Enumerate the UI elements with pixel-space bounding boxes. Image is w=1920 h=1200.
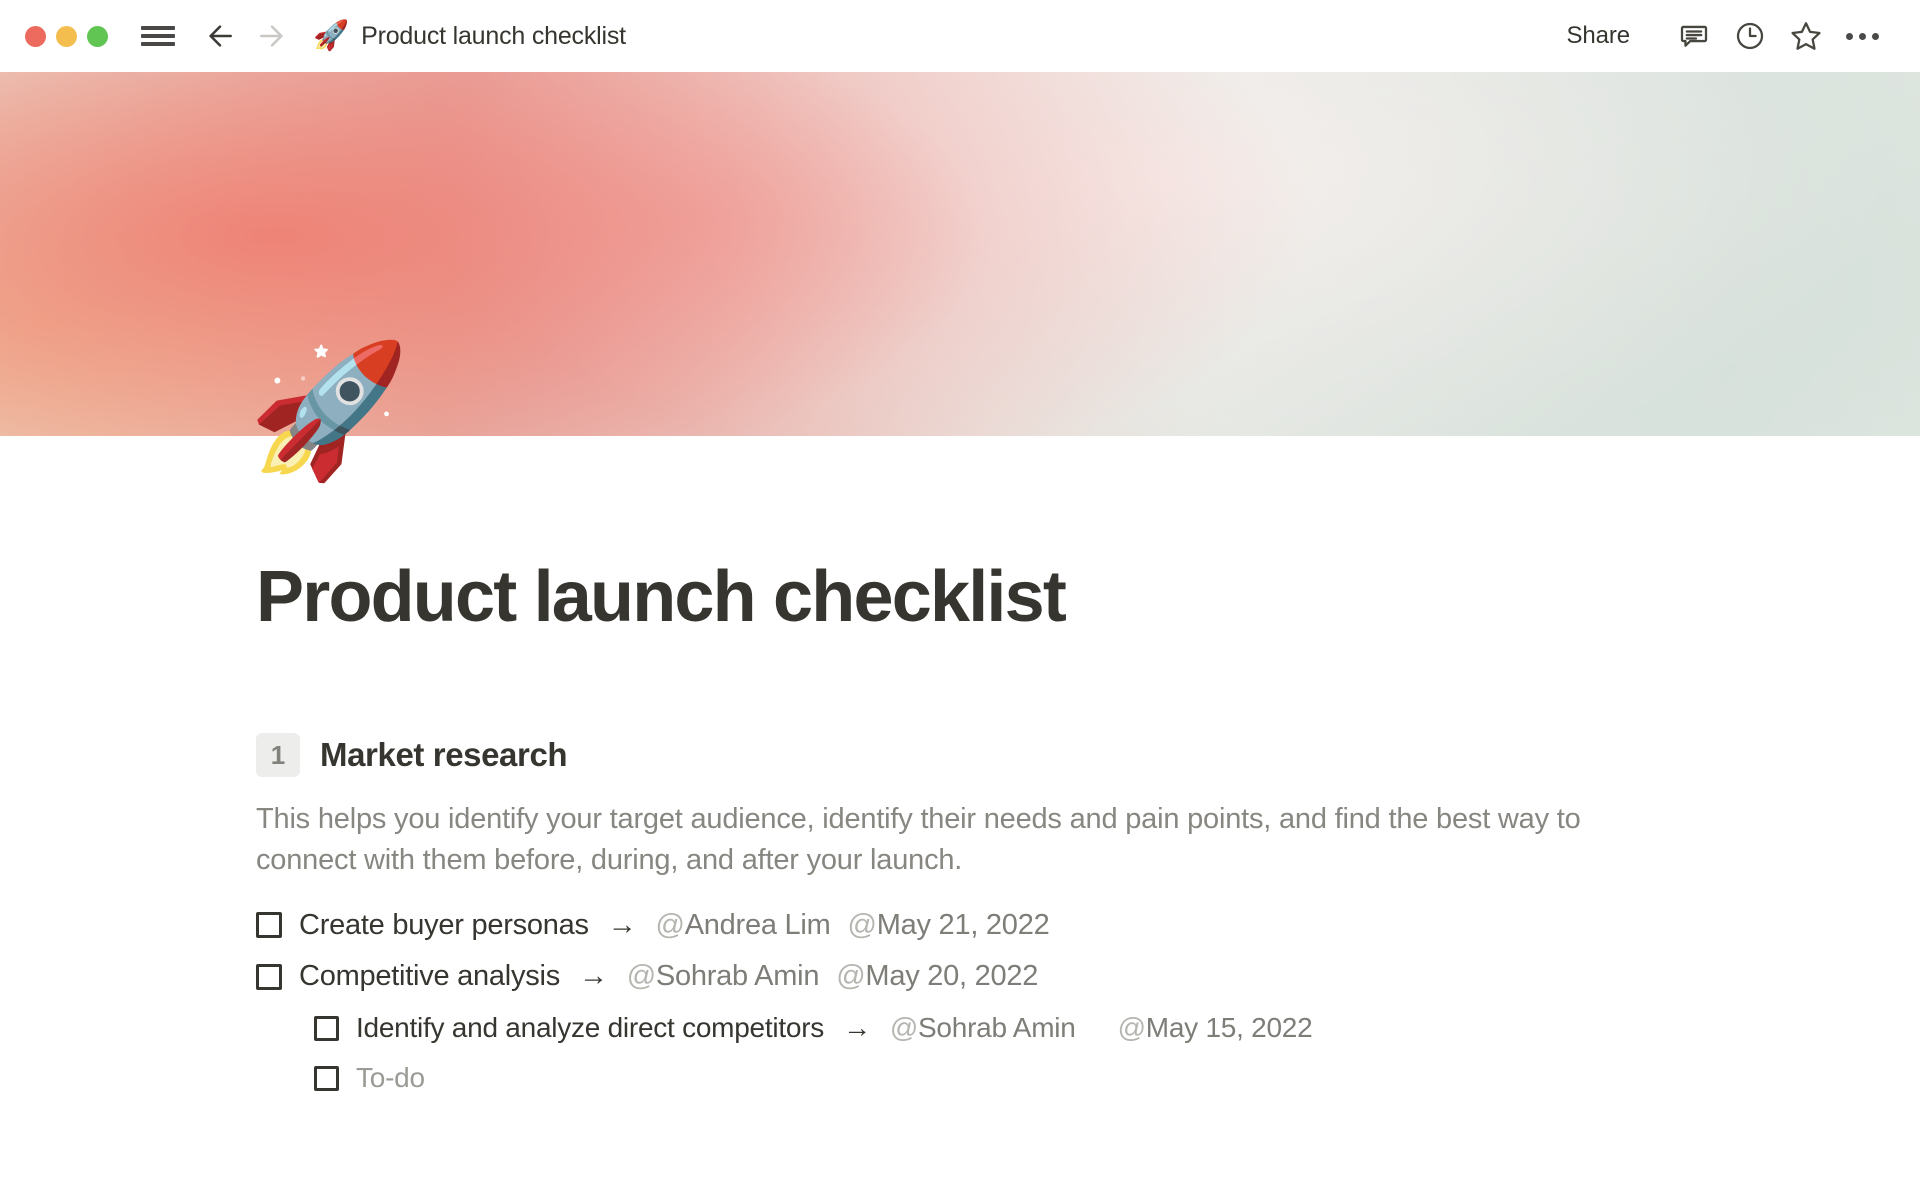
- more-dot: [1872, 33, 1879, 40]
- more-options-icon[interactable]: [1834, 12, 1890, 60]
- checkbox[interactable]: [314, 1016, 339, 1041]
- checkbox[interactable]: [256, 912, 282, 938]
- star-icon[interactable]: [1778, 12, 1834, 60]
- section-description[interactable]: This helps you identify your target audi…: [256, 799, 1606, 881]
- comment-icon[interactable]: [1666, 12, 1722, 60]
- checklist: Create buyer personas → @Andrea Lim @May…: [256, 900, 1800, 1104]
- navigation-arrows: [201, 17, 291, 55]
- person-mention[interactable]: @Andrea Lim: [656, 907, 831, 945]
- arrow-right-glyph: →: [579, 958, 608, 996]
- at-symbol: @: [890, 1012, 918, 1043]
- zoom-window-button[interactable]: [87, 26, 108, 47]
- document-breadcrumb[interactable]: 🚀 Product launch checklist: [313, 22, 626, 51]
- date-mention-value: May 20, 2022: [865, 960, 1038, 992]
- arrow-right-glyph: →: [608, 907, 637, 945]
- more-dot: [1846, 33, 1853, 40]
- share-button[interactable]: Share: [1552, 14, 1644, 58]
- hamburger-icon[interactable]: [141, 23, 175, 49]
- clock-icon[interactable]: [1722, 12, 1778, 60]
- checklist-item[interactable]: Create buyer personas → @Andrea Lim @May…: [256, 900, 1800, 952]
- checkbox[interactable]: [314, 1066, 339, 1091]
- at-symbol: @: [836, 960, 865, 992]
- traffic-light-group: [25, 26, 108, 47]
- arrow-left-icon[interactable]: [201, 17, 239, 55]
- person-mention-name: Sohrab Amin: [656, 960, 819, 992]
- rocket-icon: 🚀: [313, 22, 349, 51]
- date-mention-value: May 21, 2022: [877, 909, 1050, 941]
- person-mention-name: Andrea Lim: [685, 909, 831, 941]
- hamburger-line: [141, 26, 175, 30]
- page-title[interactable]: Product launch checklist: [256, 558, 1800, 637]
- checklist-item-label: Competitive analysis: [299, 958, 560, 996]
- more-dot: [1859, 33, 1866, 40]
- arrow-right-glyph: →: [843, 1010, 871, 1046]
- checklist-subitem[interactable]: Identify and analyze direct competitors …: [314, 1003, 1800, 1053]
- minimize-window-button[interactable]: [56, 26, 77, 47]
- arrow-right-icon[interactable]: [253, 17, 291, 55]
- hamburger-line: [141, 42, 175, 46]
- checklist-subitem-empty[interactable]: To-do: [314, 1053, 1800, 1103]
- date-mention-value: May 15, 2022: [1146, 1012, 1313, 1043]
- checklist-item-label: Create buyer personas: [299, 907, 589, 945]
- section-title[interactable]: Market research: [320, 736, 567, 774]
- checkbox[interactable]: [256, 964, 282, 990]
- close-window-button[interactable]: [25, 26, 46, 47]
- checklist-item-label: Identify and analyze direct competitors: [356, 1010, 824, 1046]
- date-mention[interactable]: @May 20, 2022: [836, 958, 1038, 996]
- person-mention[interactable]: @Sohrab Amin: [890, 1010, 1076, 1046]
- at-symbol: @: [1118, 1012, 1146, 1043]
- at-symbol: @: [627, 960, 656, 992]
- section-heading: 1 Market research: [256, 733, 1800, 777]
- at-symbol: @: [656, 909, 685, 941]
- page-content: Product launch checklist 1 Market resear…: [0, 436, 1920, 1104]
- person-mention-name: Sohrab Amin: [918, 1012, 1076, 1043]
- document-title-label: Product launch checklist: [361, 22, 626, 51]
- date-mention[interactable]: @May 15, 2022: [1118, 1010, 1313, 1046]
- page-icon-rocket[interactable]: 🚀: [248, 345, 410, 475]
- person-mention[interactable]: @Sohrab Amin: [627, 958, 820, 996]
- date-mention[interactable]: @May 21, 2022: [848, 907, 1050, 945]
- checklist-item-placeholder[interactable]: To-do: [356, 1060, 425, 1096]
- hamburger-line: [141, 34, 175, 38]
- titlebar-actions: Share: [1552, 12, 1920, 60]
- at-symbol: @: [848, 909, 877, 941]
- section-number-badge: 1: [256, 733, 300, 777]
- window-titlebar: 🚀 Product launch checklist Share: [0, 0, 1920, 72]
- checklist-item[interactable]: Competitive analysis → @Sohrab Amin @May…: [256, 951, 1800, 1003]
